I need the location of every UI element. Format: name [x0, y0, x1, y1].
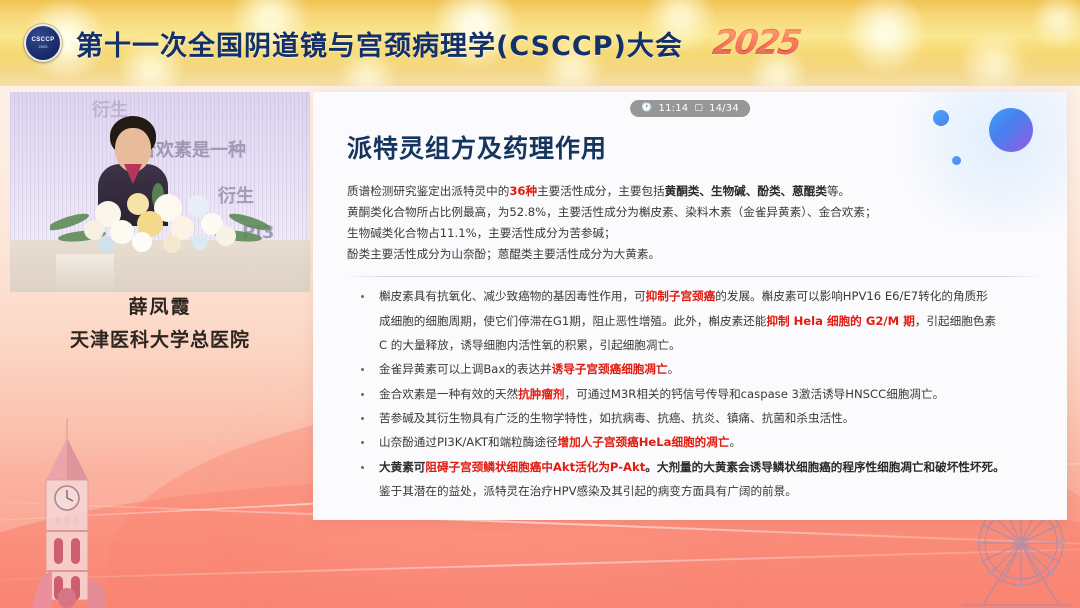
speaker-video-thumbnail[interactable]: 衍生 合欢素是一种 衍生 PI3 [10, 92, 310, 292]
text-run: 槲皮素具有抗氧化、减少致癌物的基因毒性作用，可 [379, 289, 646, 303]
flower-arrangement [50, 178, 270, 262]
text-run: 抑制子宫颈癌 [646, 289, 716, 303]
speaker-photo: 衍生 合欢素是一种 衍生 PI3 [10, 92, 310, 292]
csccp-logo-icon: CSCCP 2025 [24, 24, 62, 62]
text-run: 抗肿瘤剂 [518, 387, 564, 401]
section-divider [347, 276, 1041, 277]
logo-sub-text: 2025 [39, 45, 48, 49]
bullet-item: 苦参碱及其衍生物具有广泛的生物学特性，如抗病毒、抗癌、抗炎、镇痛、抗菌和杀虫活性… [347, 408, 1041, 429]
bullet-item: 大黄素可阻碍子宫颈鳞状细胞癌中Akt活化为P-Akt。大剂量的大黄素会诱导鳞状细… [347, 457, 1041, 478]
intro-line: 黄酮类化合物所占比例最高，为52.8%，主要活性成分为槲皮素、染料木素（金雀异黄… [347, 202, 1041, 223]
slide-content-card: 🕐 11:14 ▢ 14/34 派特灵组方及药理作用 质谱检测研究鉴定出派特灵中… [313, 92, 1067, 520]
bullet-list: 槲皮素具有抗氧化、减少致癌物的基因毒性作用，可抑制子宫颈癌的发展。槲皮素可以影响… [347, 286, 1041, 502]
page-icon: ▢ [694, 104, 703, 113]
bullet-item: 槲皮素具有抗氧化、减少致癌物的基因毒性作用，可抑制子宫颈癌的发展。槲皮素可以影响… [347, 286, 1041, 307]
bullet-continuation: 鉴于其潜在的益处，派特灵在治疗HPV感染及其引起的病变方面具有广阔的前景。 [347, 481, 1041, 502]
text-run: 36种 [509, 184, 537, 198]
text-run: 成细胞的细胞周期，使它们停滞在G1期，阻止恶性增殖。此外，槲皮素还能 [379, 314, 766, 328]
text-run: 主要活性成分，主要包括 [537, 184, 665, 198]
intro-line: 生物碱类化合物占11.1%，主要活性成分为苦参碱； [347, 223, 1041, 244]
speaker-organization: 天津医科大学总医院 [10, 325, 310, 352]
elapsed-time: 11:14 [659, 103, 689, 114]
text-run: 生物碱类化合物占11.1%，主要活性成分为苦参碱； [347, 226, 616, 240]
intro-paragraphs: 质谱检测研究鉴定出派特灵中的36种主要活性成分，主要包括黄酮类、生物碱、酚类、蒽… [347, 181, 1041, 265]
text-run: 大黄素可 [379, 460, 425, 474]
text-run: 抑制 Hela 细胞的 G2/M 期 [766, 314, 914, 328]
text-run: 金雀异黄素可以上调Bax的表达并 [379, 362, 552, 376]
conference-title: 第十一次全国阴道镜与宫颈病理学(CSCCP)大会 [76, 24, 683, 63]
bullet-item: 金合欢素是一种有效的天然抗肿瘤剂，可通过M3R相关的钙信号传导和caspase … [347, 384, 1041, 405]
text-run: 等。 [827, 184, 850, 198]
intro-line: 酚类主要活性成分为山奈酚；蒽醌类主要活性成分为大黄素。 [347, 244, 1041, 265]
clock-icon: 🕐 [641, 104, 652, 113]
text-run: 。大剂量的大黄素会诱导鳞状细胞癌的程序性细胞凋亡和破坏性坏死。 [645, 460, 1004, 474]
text-run: 质谱检测研究鉴定出派特灵中的 [347, 184, 509, 198]
text-run: 增加人子宫颈癌HeLa细胞的凋亡 [558, 435, 730, 449]
conference-header-banner: CSCCP 2025 第十一次全国阴道镜与宫颈病理学(CSCCP)大会 2025 [0, 0, 1080, 86]
bullet-item: 金雀异黄素可以上调Bax的表达并诱导子宫颈癌细胞凋亡。 [347, 359, 1041, 380]
text-run: 阻碍子宫颈鳞状细胞癌中Akt活化为P-Akt [425, 460, 645, 474]
text-run: 黄酮类化合物所占比例最高，为52.8%，主要活性成分为槲皮素、染料木素（金雀异黄… [347, 205, 877, 219]
text-run: 。 [729, 435, 741, 449]
bullet-continuation: C 的大量释放，诱导细胞内活性氧的积累，引起细胞凋亡。 [347, 335, 1041, 356]
text-run: 鉴于其潜在的益处，派特灵在治疗HPV感染及其引起的病变方面具有广阔的前景。 [379, 484, 797, 498]
logo-main-text: CSCCP [31, 37, 54, 43]
speaker-caption: 薛凤霞 天津医科大学总医院 [10, 292, 310, 352]
slide-counter: 14/34 [709, 103, 739, 114]
text-run: 苦参碱及其衍生物具有广泛的生物学特性，如抗病毒、抗癌、抗炎、镇痛、抗菌和杀虫活性… [379, 411, 854, 425]
text-run: 金合欢素是一种有效的天然 [379, 387, 518, 401]
conference-year-logo: 2025 [710, 23, 802, 63]
text-run: ，可通过M3R相关的钙信号传导和caspase 3激活诱导HNSCC细胞凋亡。 [565, 387, 945, 401]
text-run: 酚类主要活性成分为山奈酚；蒽醌类主要活性成分为大黄素。 [347, 247, 660, 261]
clock-tower-illustration [22, 418, 112, 608]
text-run: C 的大量释放，诱导细胞内活性氧的积累，引起细胞凋亡。 [379, 338, 681, 352]
slide-stage: CSCCP 2025 第十一次全国阴道镜与宫颈病理学(CSCCP)大会 2025… [0, 0, 1080, 608]
bullet-continuation: 成细胞的细胞周期，使它们停滞在G1期，阻止恶性增殖。此外，槲皮素还能抑制 Hel… [347, 311, 1041, 332]
bullet-item: 山奈酚通过PI3K/AKT和端粒酶途径增加人子宫颈癌HeLa细胞的凋亡。 [347, 432, 1041, 453]
text-run: 诱导子宫颈癌细胞凋亡 [552, 362, 668, 376]
slide-title: 派特灵组方及药理作用 [347, 129, 1041, 165]
text-run: 。 [668, 362, 680, 376]
speaker-name: 薛凤霞 [10, 292, 310, 319]
intro-line: 质谱检测研究鉴定出派特灵中的36种主要活性成分，主要包括黄酮类、生物碱、酚类、蒽… [347, 181, 1041, 202]
text-run: 黄酮类、生物碱、酚类、蒽醌类 [665, 184, 827, 198]
text-run: ，引起细胞色素 [915, 314, 996, 328]
text-run: 山奈酚通过PI3K/AKT和端粒酶途径 [379, 435, 558, 449]
slide-meta-badge: 🕐 11:14 ▢ 14/34 [630, 100, 750, 117]
text-run: 的发展。槲皮素可以影响HPV16 E6/E7转化的角质形 [715, 289, 987, 303]
